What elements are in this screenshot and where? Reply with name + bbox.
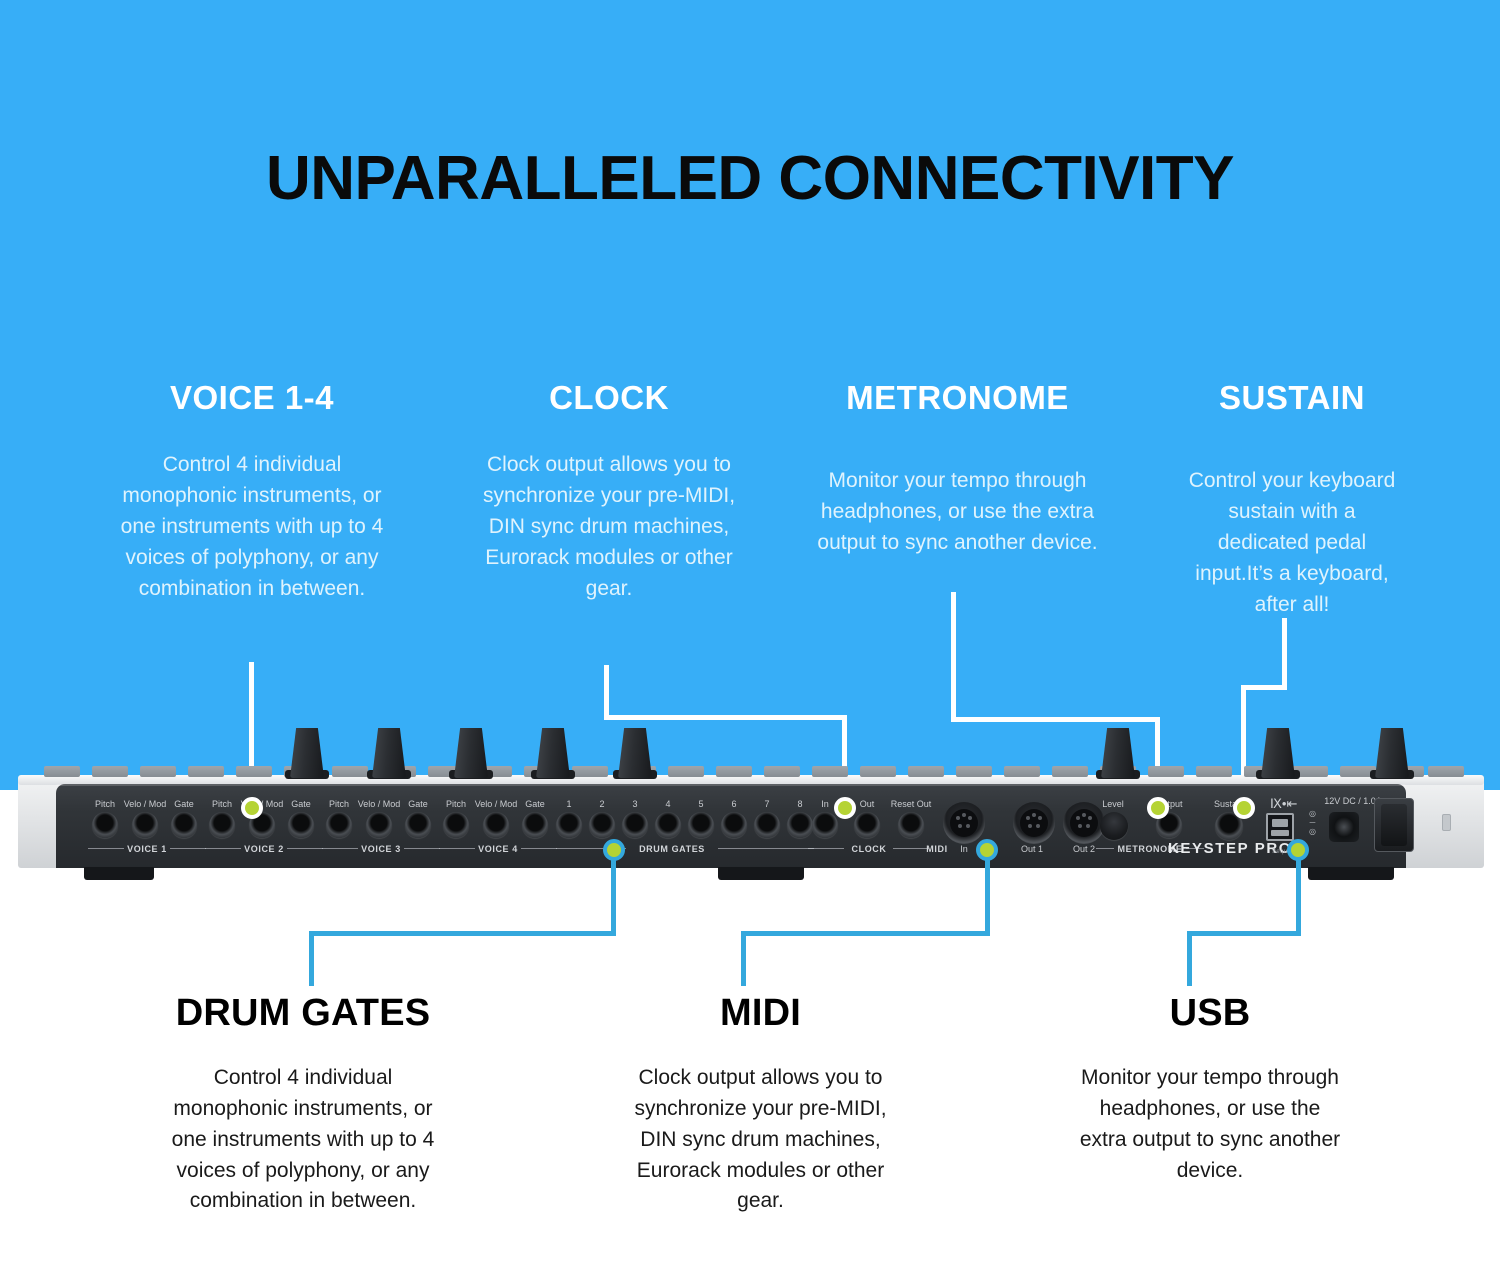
jack-voice4-velo-mod[interactable] (483, 812, 509, 838)
hotspot-clock[interactable] (834, 797, 856, 819)
hotspot-drum-gates[interactable] (603, 839, 625, 861)
jack-voice1-pitch[interactable] (92, 812, 118, 838)
hotspot-sustain[interactable] (1233, 797, 1255, 819)
jack-drum-gate-7[interactable] (754, 812, 780, 838)
key-strip (44, 766, 1464, 778)
jack-voice4-gate[interactable] (522, 812, 548, 838)
jack-voice4-pitch[interactable] (443, 812, 469, 838)
encoder-knob[interactable] (454, 728, 488, 778)
encoder-knob[interactable] (618, 728, 652, 778)
jack-label: 1 (566, 799, 571, 809)
leader-line-midi (741, 852, 993, 986)
jack-label-metronome-level: Level (1102, 799, 1124, 809)
leader-line-usb (1187, 852, 1304, 986)
jack-drum-gate-5[interactable] (688, 812, 714, 838)
jack-drum-gate-3[interactable] (622, 812, 648, 838)
jack-label: Velo / Mod (475, 799, 518, 809)
jack-clock-reset-out[interactable] (898, 812, 924, 838)
jack-label: 7 (764, 799, 769, 809)
callout-drum-gates-heading: DRUM GATES (158, 992, 448, 1035)
callout-clock-body: Clock output allows you to synchronize y… (480, 450, 738, 604)
jack-label: Velo / Mod (124, 799, 167, 809)
callout-drum-gates-body: Control 4 individual monophonic instrume… (158, 1063, 448, 1217)
knob-metronome-level[interactable] (1100, 812, 1128, 840)
din-midi-out1[interactable] (1013, 802, 1055, 844)
hotspot-midi[interactable] (976, 839, 998, 861)
callout-clock-heading: CLOCK (480, 380, 738, 416)
encoder-knob[interactable] (536, 728, 570, 778)
hotspot-metronome[interactable] (1147, 797, 1169, 819)
group-label-voice2: VOICE 2 (244, 844, 284, 854)
jack-clock-out[interactable] (854, 812, 880, 838)
callout-sustain: SUSTAIN Control your keyboard sustain wi… (1180, 380, 1404, 621)
jack-label-midi-out2: Out 2 (1073, 844, 1095, 854)
jack-label: Gate (525, 799, 545, 809)
jack-drum-gate-2[interactable] (589, 812, 615, 838)
encoder-knob[interactable] (1375, 728, 1409, 778)
jack-label-midi-out1: Out 1 (1021, 844, 1043, 854)
jack-label: Reset Out (891, 799, 932, 809)
jack-label: Velo / Mod (358, 799, 401, 809)
jack-label: Gate (408, 799, 428, 809)
jack-voice3-pitch[interactable] (326, 812, 352, 838)
jack-label: 8 (797, 799, 802, 809)
infographic-root: UNPARALLELED CONNECTIVITY VOICE 1-4 Cont… (0, 0, 1500, 1273)
callout-metronome-body: Monitor your tempo through headphones, o… (815, 466, 1100, 559)
jack-voice3-velo-mod[interactable] (366, 812, 392, 838)
callout-drum-gates: DRUM GATES Control 4 individual monophon… (158, 992, 448, 1217)
callout-midi: MIDI Clock output allows you to synchron… (628, 992, 893, 1217)
jack-label: Out (860, 799, 875, 809)
jack-drum-gate-8[interactable] (787, 812, 813, 838)
jack-label: Pitch (95, 799, 115, 809)
jack-label: 4 (665, 799, 670, 809)
callout-clock: CLOCK Clock output allows you to synchro… (480, 380, 738, 605)
rubber-foot (84, 867, 154, 880)
jack-label: In (821, 799, 829, 809)
jack-label: Pitch (212, 799, 232, 809)
callout-voice-body: Control 4 individual monophonic instrume… (112, 450, 392, 604)
din-midi-out2[interactable] (1063, 802, 1105, 844)
callout-midi-body: Clock output allows you to synchronize y… (628, 1063, 893, 1217)
rubber-foot (1308, 867, 1394, 880)
callout-usb-heading: USB (1075, 992, 1345, 1035)
encoder-knob[interactable] (1261, 728, 1295, 778)
jack-label: 6 (731, 799, 736, 809)
group-label-drum-gates: DRUM GATES (639, 844, 705, 854)
jack-label: Gate (174, 799, 194, 809)
usb-icon: Ⅸ•⇤ (1270, 796, 1297, 812)
jack-voice3-gate[interactable] (405, 812, 431, 838)
hotspot-usb[interactable] (1287, 839, 1309, 861)
jack-drum-gate-4[interactable] (655, 812, 681, 838)
jack-label: Pitch (329, 799, 349, 809)
callout-usb-body: Monitor your tempo through headphones, o… (1075, 1063, 1345, 1186)
page-title: UNPARALLELED CONNECTIVITY (0, 143, 1500, 214)
jack-voice2-gate[interactable] (288, 812, 314, 838)
callout-sustain-heading: SUSTAIN (1180, 380, 1404, 416)
jack-voice1-gate[interactable] (171, 812, 197, 838)
hotspot-voice[interactable] (241, 797, 263, 819)
jack-label: 5 (698, 799, 703, 809)
jack-clock-in[interactable] (812, 812, 838, 838)
group-label-voice1: VOICE 1 (127, 844, 167, 854)
encoder-knob[interactable] (372, 728, 406, 778)
callout-sustain-body: Control your keyboard sustain with a ded… (1180, 466, 1404, 620)
jack-drum-gate-1[interactable] (556, 812, 582, 838)
callout-metronome-heading: METRONOME (815, 380, 1100, 416)
callout-midi-heading: MIDI (628, 992, 893, 1035)
encoder-knob[interactable] (290, 728, 324, 778)
jack-label: Pitch (446, 799, 466, 809)
callout-metronome: METRONOME Monitor your tempo through hea… (815, 380, 1100, 559)
jack-voice2-pitch[interactable] (209, 812, 235, 838)
kensington-lock-slot (1442, 814, 1451, 831)
callout-voice-heading: VOICE 1-4 (112, 380, 392, 416)
power-switch[interactable] (1374, 798, 1414, 852)
leader-line-drum-gates (309, 852, 619, 986)
encoder-knob[interactable] (1101, 728, 1135, 778)
usb-b-port[interactable] (1266, 813, 1294, 841)
jack-voice1-velo-mod[interactable] (132, 812, 158, 838)
din-midi-in[interactable] (943, 802, 985, 844)
jack-label: 2 (599, 799, 604, 809)
jack-drum-gate-6[interactable] (721, 812, 747, 838)
jack-label: 3 (632, 799, 637, 809)
dc-power-jack[interactable] (1329, 812, 1359, 842)
power-polarity-icon: ◎─◎ (1309, 810, 1316, 836)
callout-usb: USB Monitor your tempo through headphone… (1075, 992, 1345, 1186)
jack-label: Gate (291, 799, 311, 809)
callout-voice: VOICE 1-4 Control 4 individual monophoni… (112, 380, 392, 605)
